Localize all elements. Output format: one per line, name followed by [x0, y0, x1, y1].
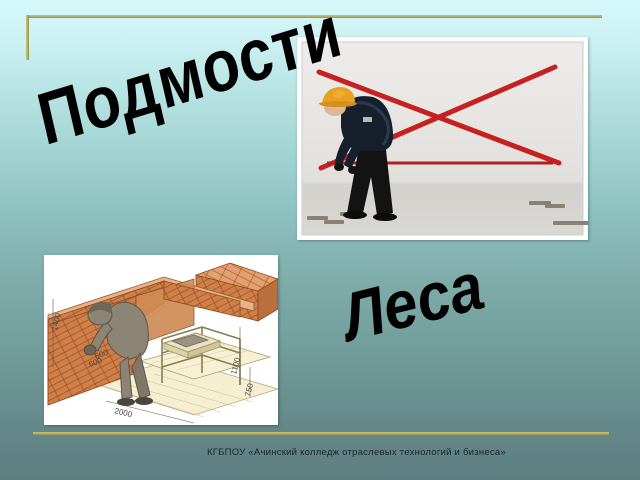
footer-institution-name: КГБПОУ «Ачинский колледж отраслевых техн… — [207, 447, 506, 458]
decorative-rule-left — [26, 15, 29, 60]
decorative-rule-bottom — [33, 432, 609, 435]
slide-title-secondary: Леса — [336, 252, 490, 352]
presentation-slide: 1400 1100 750 2000 600 500 Подмости Леса… — [0, 0, 640, 480]
bricklayer-isometric-drawing: 1400 1100 750 2000 600 500 — [44, 255, 278, 425]
